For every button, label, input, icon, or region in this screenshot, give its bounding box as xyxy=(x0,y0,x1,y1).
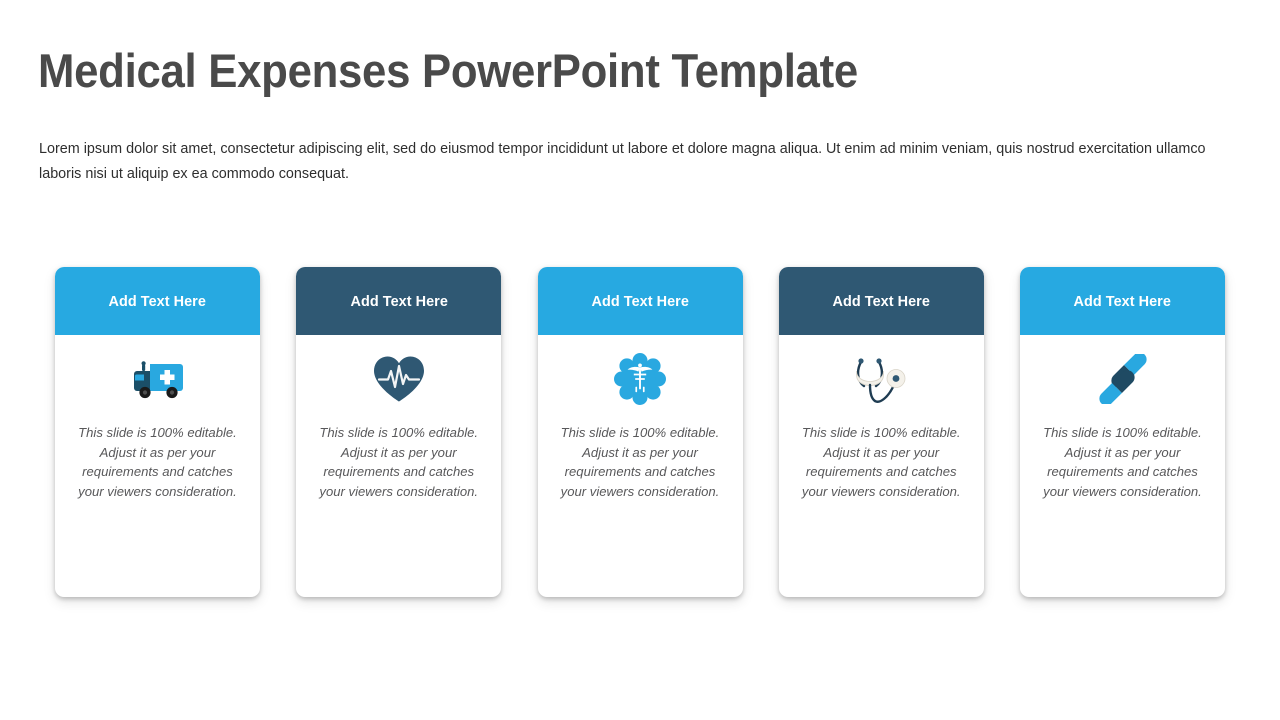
card-5[interactable]: Add Text Here xyxy=(1020,267,1225,597)
card-1-icon-wrap xyxy=(55,335,260,423)
card-1-body-text: This slide is 100% editable. Adjust it a… xyxy=(55,423,260,501)
card-5-header-label: Add Text Here xyxy=(1074,293,1171,310)
card-5-header[interactable]: Add Text Here xyxy=(1020,267,1225,335)
card-1[interactable]: Add Text Here xyxy=(55,267,260,597)
card-2-header-label: Add Text Here xyxy=(350,293,447,310)
card-4-header-label: Add Text Here xyxy=(833,293,930,310)
card-5-body-text: This slide is 100% editable. Adjust it a… xyxy=(1020,423,1225,501)
ambulance-icon xyxy=(128,355,188,403)
page-title: Medical Expenses PowerPoint Template xyxy=(38,45,858,98)
pills-capsules-icon xyxy=(1095,354,1151,404)
stethoscope-icon xyxy=(852,354,910,404)
card-3-header[interactable]: Add Text Here xyxy=(538,267,743,335)
caduceus-flower-icon xyxy=(614,353,666,405)
intro-paragraph: Lorem ipsum dolor sit amet, consectetur … xyxy=(39,137,1224,187)
card-5-icon-wrap xyxy=(1020,335,1225,423)
card-2[interactable]: Add Text Here This slide is 100% editabl… xyxy=(296,267,501,597)
card-2-body-text: This slide is 100% editable. Adjust it a… xyxy=(296,423,501,501)
card-1-header-label: Add Text Here xyxy=(109,293,206,310)
card-4-header[interactable]: Add Text Here xyxy=(779,267,984,335)
slide-canvas: Medical Expenses PowerPoint Template Lor… xyxy=(0,0,1280,720)
card-4-body-text: This slide is 100% editable. Adjust it a… xyxy=(779,423,984,501)
heart-pulse-icon xyxy=(372,354,426,404)
card-1-header[interactable]: Add Text Here xyxy=(55,267,260,335)
card-3[interactable]: Add Text Here xyxy=(538,267,743,597)
card-2-header[interactable]: Add Text Here xyxy=(296,267,501,335)
card-3-header-label: Add Text Here xyxy=(591,293,688,310)
card-4[interactable]: Add Text Here xyxy=(779,267,984,597)
card-3-body-text: This slide is 100% editable. Adjust it a… xyxy=(538,423,743,501)
card-2-icon-wrap xyxy=(296,335,501,423)
card-3-icon-wrap xyxy=(538,335,743,423)
card-row: Add Text Here xyxy=(55,267,1225,599)
card-4-icon-wrap xyxy=(779,335,984,423)
